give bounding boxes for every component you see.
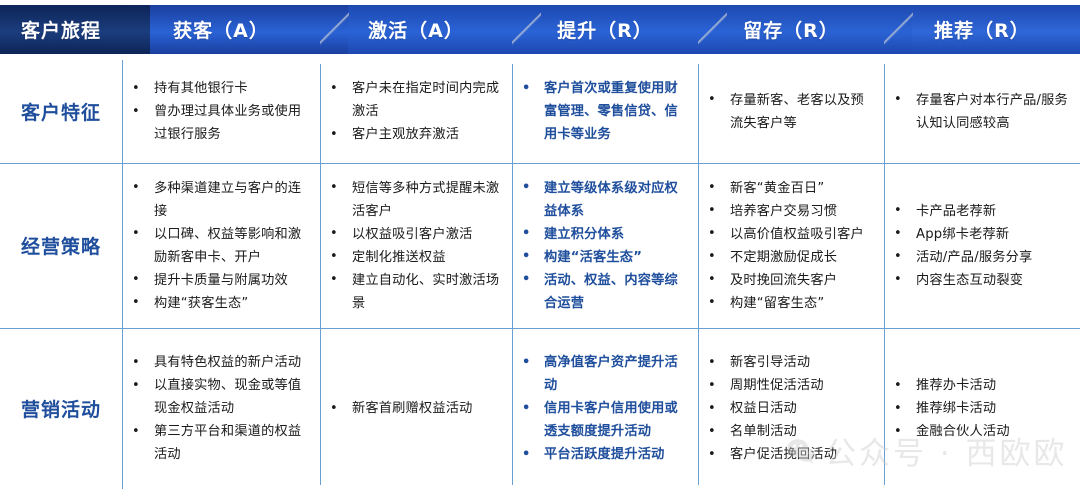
bullet-list: 推荐办卡活动推荐绑卡活动金融合伙人活动 bbox=[890, 374, 1072, 443]
list-item: 提升卡质量与附属功效 bbox=[128, 269, 312, 292]
strategy-matrix-table: 客户特征持有其他银行卡曾办理过具体业务或使用过银行服务客户未在指定时间内完成激活… bbox=[0, 60, 1080, 489]
list-item: 金融合伙人活动 bbox=[890, 420, 1072, 443]
list-item: 卡产品老荐新 bbox=[890, 200, 1072, 223]
list-item: 构建“活客生态” bbox=[518, 246, 690, 269]
list-item: 构建“留客生态” bbox=[704, 292, 876, 315]
journey-stage-1-label: 获客（A） bbox=[173, 16, 269, 43]
list-item: 周期性促活活动 bbox=[704, 374, 876, 397]
bullet-list: 新客首刷赠权益活动 bbox=[326, 397, 504, 420]
bullet-list: 持有其他银行卡曾办理过具体业务或使用过银行服务 bbox=[128, 77, 312, 146]
list-item: 以口碑、权益等影响和激励新客申卡、开户 bbox=[128, 223, 312, 269]
list-item: 存量新客、老客以及预流失客户等 bbox=[704, 89, 876, 135]
list-item: 客户促活挽回活动 bbox=[704, 443, 876, 466]
cell-r1-c5: 存量客户对本行产品/服务认知认同感较高 bbox=[884, 60, 1080, 163]
list-item: 多种渠道建立与客户的连接 bbox=[128, 177, 312, 223]
row-header-2: 经营策略 bbox=[0, 163, 122, 328]
cell-r2-c1: 多种渠道建立与客户的连接以口碑、权益等影响和激励新客申卡、开户提升卡质量与附属功… bbox=[122, 163, 320, 328]
list-item: 培养客户交易习惯 bbox=[704, 200, 876, 223]
bullet-list: 卡产品老荐新App绑卡老荐新活动/产品/服务分享内容生态互动裂变 bbox=[890, 200, 1072, 292]
row-header-1: 客户特征 bbox=[0, 60, 122, 163]
list-item: 信用卡客户信用使用或透支额度提升活动 bbox=[518, 397, 690, 443]
list-item: 新客“黄金百日” bbox=[704, 177, 876, 200]
cell-r2-c3: 建立等级体系级对应权益体系建立积分体系构建“活客生态”活动、权益、内容等综合运营 bbox=[512, 163, 698, 328]
row-header-3: 营销活动 bbox=[0, 328, 122, 489]
row-header-label: 客户特征 bbox=[21, 98, 101, 125]
list-item: 客户未在指定时间内完成激活 bbox=[326, 77, 504, 123]
cell-r1-c1: 持有其他银行卡曾办理过具体业务或使用过银行服务 bbox=[122, 60, 320, 163]
list-item: 构建“获客生态” bbox=[128, 292, 312, 315]
list-item: 客户主观放弃激活 bbox=[326, 123, 504, 146]
bullet-list: 多种渠道建立与客户的连接以口碑、权益等影响和激励新客申卡、开户提升卡质量与附属功… bbox=[128, 177, 312, 315]
cell-r1-c4: 存量新客、老客以及预流失客户等 bbox=[698, 60, 884, 163]
bullet-list: 新客“黄金百日”培养客户交易习惯以高价值权益吸引客户不定期激励促成长及时挽回流失… bbox=[704, 177, 876, 315]
journey-stage-5[interactable]: 推荐（R） bbox=[884, 5, 1080, 54]
cell-r1-c2: 客户未在指定时间内完成激活客户主观放弃激活 bbox=[320, 60, 512, 163]
cell-r3-c3: 高净值客户资产提升活动信用卡客户信用使用或透支额度提升活动平台活跃度提升活动 bbox=[512, 328, 698, 489]
list-item: 以直接实物、现金或等值现金权益活动 bbox=[128, 374, 312, 420]
bullet-list: 高净值客户资产提升活动信用卡客户信用使用或透支额度提升活动平台活跃度提升活动 bbox=[518, 351, 690, 466]
list-item: 定制化推送权益 bbox=[326, 246, 504, 269]
cell-r3-c2: 新客首刷赠权益活动 bbox=[320, 328, 512, 489]
list-item: 推荐绑卡活动 bbox=[890, 397, 1072, 420]
cell-r3-c1: 具有特色权益的新户活动以直接实物、现金或等值现金权益活动第三方平台和渠道的权益活… bbox=[122, 328, 320, 489]
list-item: 活动、权益、内容等综合运营 bbox=[518, 269, 690, 315]
list-item: 建立自动化、实时激活场景 bbox=[326, 269, 504, 315]
journey-stage-3-label: 提升（R） bbox=[557, 16, 653, 43]
list-item: 不定期激励促成长 bbox=[704, 246, 876, 269]
list-item: 内容生态互动裂变 bbox=[890, 269, 1072, 292]
list-item: 具有特色权益的新户活动 bbox=[128, 351, 312, 374]
journey-header-label[interactable]: 客户旅程 bbox=[0, 5, 150, 54]
bullet-list: 建立等级体系级对应权益体系建立积分体系构建“活客生态”活动、权益、内容等综合运营 bbox=[518, 177, 690, 315]
list-item: 短信等多种方式提醒未激活客户 bbox=[326, 177, 504, 223]
cell-r2-c5: 卡产品老荐新App绑卡老荐新活动/产品/服务分享内容生态互动裂变 bbox=[884, 163, 1080, 328]
journey-stage-3[interactable]: 提升（R） bbox=[512, 5, 726, 54]
cell-r3-c4: 新客引导活动周期性促活活动权益日活动名单制活动客户促活挽回活动 bbox=[698, 328, 884, 489]
journey-stage-2-label: 激活（A） bbox=[368, 16, 464, 43]
row-header-label: 营销活动 bbox=[21, 395, 101, 422]
bullet-list: 客户未在指定时间内完成激活客户主观放弃激活 bbox=[326, 77, 504, 146]
row-header-label: 经营策略 bbox=[21, 232, 101, 259]
list-item: 推荐办卡活动 bbox=[890, 374, 1072, 397]
list-item: 活动/产品/服务分享 bbox=[890, 246, 1072, 269]
bullet-list: 存量客户对本行产品/服务认知认同感较高 bbox=[890, 89, 1072, 135]
list-item: 及时挽回流失客户 bbox=[704, 269, 876, 292]
journey-stage-4[interactable]: 留存（R） bbox=[698, 5, 912, 54]
list-item: 以权益吸引客户激活 bbox=[326, 223, 504, 246]
cell-r2-c4: 新客“黄金百日”培养客户交易习惯以高价值权益吸引客户不定期激励促成长及时挽回流失… bbox=[698, 163, 884, 328]
cell-r2-c2: 短信等多种方式提醒未激活客户以权益吸引客户激活定制化推送权益建立自动化、实时激活… bbox=[320, 163, 512, 328]
bullet-list: 新客引导活动周期性促活活动权益日活动名单制活动客户促活挽回活动 bbox=[704, 351, 876, 466]
cell-r3-c5: 推荐办卡活动推荐绑卡活动金融合伙人活动 bbox=[884, 328, 1080, 489]
list-item: 建立积分体系 bbox=[518, 223, 690, 246]
list-item: 平台活跃度提升活动 bbox=[518, 443, 690, 466]
list-item: 新客引导活动 bbox=[704, 351, 876, 374]
list-item: 高净值客户资产提升活动 bbox=[518, 351, 690, 397]
list-item: 以高价值权益吸引客户 bbox=[704, 223, 876, 246]
list-item: App绑卡老荐新 bbox=[890, 223, 1072, 246]
list-item: 权益日活动 bbox=[704, 397, 876, 420]
bullet-list: 具有特色权益的新户活动以直接实物、现金或等值现金权益活动第三方平台和渠道的权益活… bbox=[128, 351, 312, 466]
journey-stage-2[interactable]: 激活（A） bbox=[320, 5, 540, 54]
journey-stage-1[interactable]: 获客（A） bbox=[122, 5, 348, 54]
list-item: 客户首次或重复使用财富管理、零售信贷、信用卡等业务 bbox=[518, 77, 690, 146]
bullet-list: 短信等多种方式提醒未激活客户以权益吸引客户激活定制化推送权益建立自动化、实时激活… bbox=[326, 177, 504, 315]
list-item: 曾办理过具体业务或使用过银行服务 bbox=[128, 100, 312, 146]
journey-stage-4-label: 留存（R） bbox=[743, 16, 839, 43]
journey-stage-5-label: 推荐（R） bbox=[934, 16, 1030, 43]
list-item: 存量客户对本行产品/服务认知认同感较高 bbox=[890, 89, 1072, 135]
bullet-list: 存量新客、老客以及预流失客户等 bbox=[704, 89, 876, 135]
list-item: 新客首刷赠权益活动 bbox=[326, 397, 504, 420]
list-item: 建立等级体系级对应权益体系 bbox=[518, 177, 690, 223]
journey-stage-ribbon: 推荐（R）留存（R）提升（R）激活（A）获客（A）客户旅程 bbox=[0, 5, 1080, 54]
journey-header-label-label: 客户旅程 bbox=[21, 16, 101, 43]
list-item: 持有其他银行卡 bbox=[128, 77, 312, 100]
cell-r1-c3: 客户首次或重复使用财富管理、零售信贷、信用卡等业务 bbox=[512, 60, 698, 163]
bullet-list: 客户首次或重复使用财富管理、零售信贷、信用卡等业务 bbox=[518, 77, 690, 146]
list-item: 名单制活动 bbox=[704, 420, 876, 443]
list-item: 第三方平台和渠道的权益活动 bbox=[128, 420, 312, 466]
